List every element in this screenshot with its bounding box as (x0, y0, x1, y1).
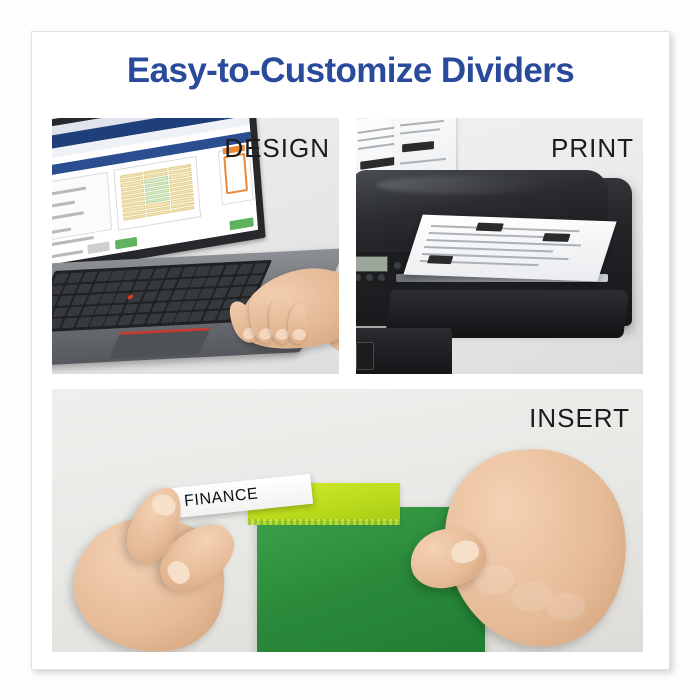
left-hand (74, 467, 264, 652)
fingernail (292, 329, 305, 340)
app-template-grid (113, 156, 201, 231)
right-hand (402, 433, 634, 652)
step-panel-design: DESIGN (52, 118, 339, 374)
app-primary-button[interactable] (115, 237, 137, 250)
page-title: Easy-to-Customize Dividers (32, 51, 669, 91)
printer-front-cartridge-bay (356, 328, 452, 374)
laptop-trackpad[interactable] (109, 327, 211, 359)
app-form-panel (52, 172, 112, 243)
app-cancel-button[interactable] (87, 241, 109, 254)
step-panel-insert: FINANCE I (52, 389, 643, 652)
step-label-insert: INSERT (529, 403, 630, 434)
step-panel-print: PRINT (356, 118, 643, 374)
product-card: Easy-to-Customize Dividers (31, 31, 670, 670)
step-label-design: DESIGN (224, 133, 330, 164)
printed-divider-sheet (403, 215, 616, 282)
fingernail (164, 557, 195, 588)
printer-memory-card-slot[interactable] (356, 342, 374, 370)
app-next-button[interactable] (229, 217, 253, 230)
printer-highlight (376, 176, 556, 194)
typing-hand (202, 256, 339, 374)
thumbnail (449, 538, 481, 566)
printer-lcd-display (356, 256, 388, 272)
thumbnail (149, 491, 179, 519)
step-label-print: PRINT (551, 133, 634, 164)
product-image-canvas: Easy-to-Customize Dividers (0, 0, 700, 700)
